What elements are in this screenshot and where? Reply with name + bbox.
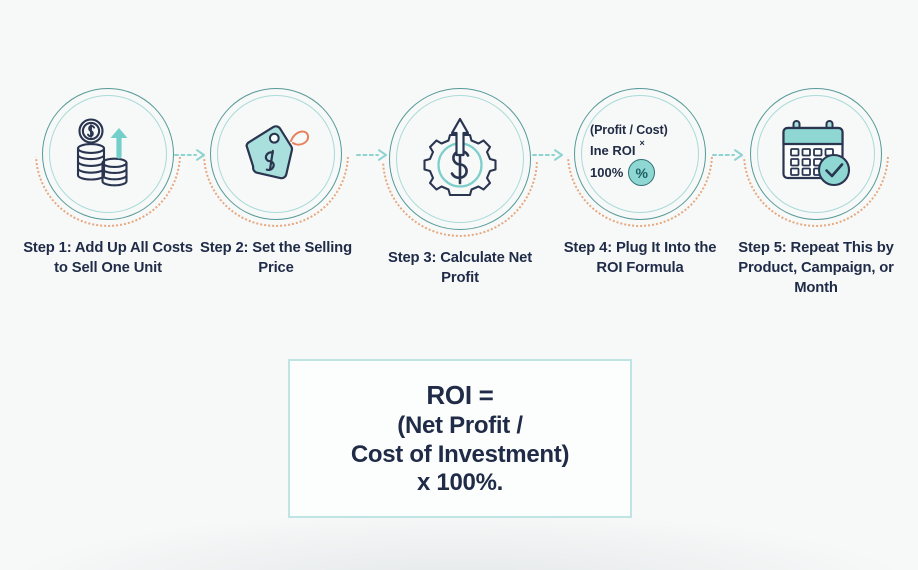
- multiply-sign: ×: [640, 138, 645, 150]
- step-4-label: Step 4: Plug It Into the ROI Formula: [554, 238, 726, 278]
- step-1-badge: [42, 88, 174, 220]
- step-3-badge: [389, 88, 531, 230]
- step-3-label: Step 3: Calculate Net Profit: [374, 248, 546, 288]
- step-2-badge: [210, 88, 342, 220]
- formula-line-4: x 100%.: [417, 469, 503, 497]
- formula-line-1: ROI =: [426, 380, 493, 411]
- roi-formula-box: ROI = (Net Profit / Cost of Investment) …: [288, 359, 632, 518]
- step-1[interactable]: Step 1: Add Up All Costs to Sell One Uni…: [20, 88, 196, 278]
- step-4[interactable]: (Profit / Cost) Ine ROI × 100% % Step 4:…: [552, 88, 728, 278]
- step-3[interactable]: Step 3: Calculate Net Profit: [372, 88, 548, 288]
- step-4-inline-formula: (Profit / Cost) Ine ROI × 100% %: [584, 122, 696, 186]
- formula-line-2: (Net Profit /: [397, 412, 522, 440]
- step-5-label: Step 5: Repeat This by Product, Campaign…: [728, 238, 904, 298]
- background-shading: [0, 510, 918, 570]
- step-2-label: Step 2: Set the Selling Price: [190, 238, 362, 278]
- step-2-icon-holder: [210, 88, 342, 220]
- calendar-check-icon: [776, 116, 856, 192]
- step-1-label: Step 1: Add Up All Costs to Sell One Uni…: [22, 238, 194, 278]
- step-5-badge: [750, 88, 882, 220]
- roi-steps-flow: Step 1: Add Up All Costs to Sell One Uni…: [0, 88, 918, 328]
- step-1-icon-holder: [42, 88, 174, 220]
- step-4-badge: (Profit / Cost) Ine ROI × 100% %: [574, 88, 706, 220]
- inline-formula-row-2: 100% %: [590, 159, 696, 186]
- gear-dollar-arrow-up-icon: [414, 111, 506, 207]
- price-tag-dollar-icon: [237, 116, 315, 192]
- step-5-icon-holder: [750, 88, 882, 220]
- coin-stack-growth-icon: [70, 118, 146, 190]
- inline-formula-line-2: Ine ROI: [590, 142, 636, 159]
- up-arrow-accent: [111, 128, 128, 156]
- inline-formula-line-1: (Profit / Cost): [590, 122, 696, 139]
- inline-formula-line-3: 100%: [590, 164, 623, 181]
- formula-line-3: Cost of Investment): [351, 441, 569, 469]
- step-5[interactable]: Step 5: Repeat This by Product, Campaign…: [728, 88, 904, 298]
- percent-badge-icon: %: [628, 159, 655, 186]
- step-2[interactable]: Step 2: Set the Selling Price: [188, 88, 364, 278]
- step-3-icon-holder: [389, 88, 531, 230]
- inline-formula-row-1: Ine ROI ×: [590, 138, 696, 159]
